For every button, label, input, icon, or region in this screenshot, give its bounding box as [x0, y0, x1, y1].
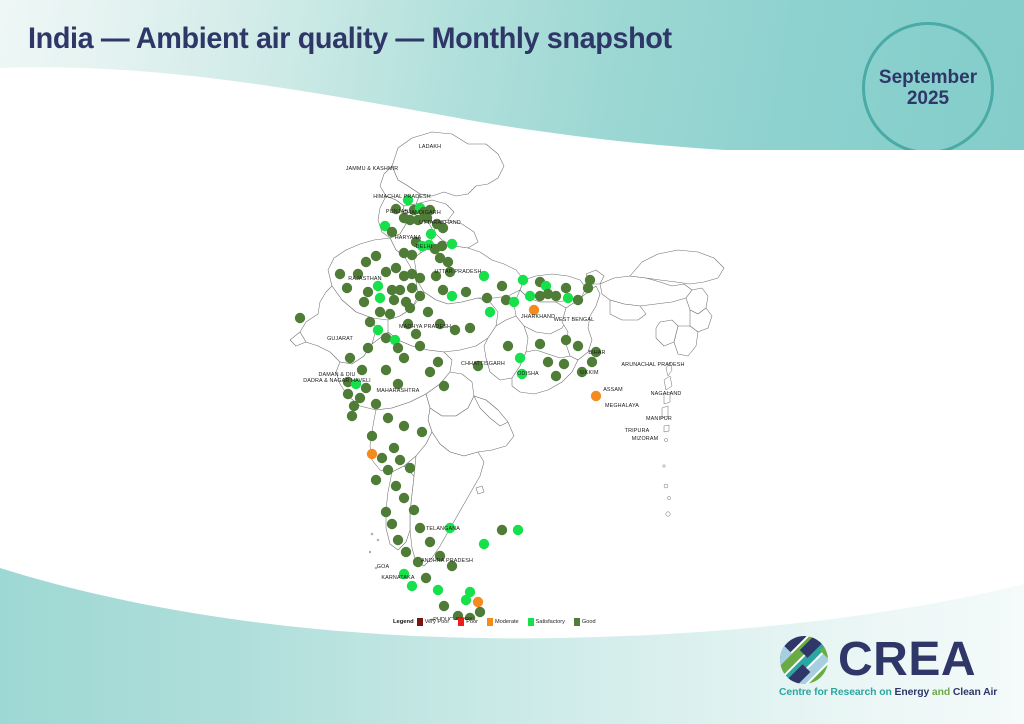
station-point[interactable]: [391, 481, 401, 491]
station-point[interactable]: [375, 293, 385, 303]
state-label: DADRA & NAGAR HAVELI: [303, 378, 371, 384]
legend-item-satisfactory: Satisfactory: [528, 618, 565, 626]
station-point[interactable]: [345, 353, 355, 363]
station-point[interactable]: [573, 295, 583, 305]
station-point[interactable]: [347, 411, 357, 421]
station-point[interactable]: [373, 281, 383, 291]
station-point[interactable]: [393, 535, 403, 545]
state-label: GUJARAT: [327, 336, 353, 342]
state-label: MANIPUR: [646, 416, 672, 422]
station-point[interactable]: [551, 291, 561, 301]
station-point[interactable]: [401, 547, 411, 557]
station-point[interactable]: [551, 371, 561, 381]
india-map[interactable]: LADAKHJAMMU & KASHMIRHIMACHAL PRADESHPUN…: [0, 100, 1024, 620]
tagline-part-4: Clean Air: [953, 687, 997, 698]
month-label: September: [879, 67, 977, 88]
state-label: JHARKHAND: [521, 314, 555, 320]
station-point[interactable]: [450, 325, 460, 335]
station-point[interactable]: [433, 357, 443, 367]
station-point[interactable]: [513, 525, 523, 535]
station-point[interactable]: [359, 297, 369, 307]
tagline-part-3: and: [929, 687, 953, 698]
state-label: MIZORAM: [632, 436, 659, 442]
station-point[interactable]: [417, 427, 427, 437]
station-point[interactable]: [497, 525, 507, 535]
station-point[interactable]: [371, 399, 381, 409]
station-point[interactable]: [415, 273, 425, 283]
page-title: India — Ambient air quality — Monthly sn…: [28, 22, 672, 56]
legend-item-moderate: Moderate: [487, 618, 519, 626]
station-point[interactable]: [371, 251, 381, 261]
station-point[interactable]: [585, 275, 595, 285]
station-point[interactable]: [399, 493, 409, 503]
station-point[interactable]: [423, 307, 433, 317]
station-point[interactable]: [415, 341, 425, 351]
station-point[interactable]: [343, 389, 353, 399]
crea-logo-mark: [778, 634, 834, 686]
state-label: HARYANA: [395, 235, 422, 241]
station-point[interactable]: [395, 455, 405, 465]
station-point[interactable]: [587, 357, 597, 367]
station-point[interactable]: [497, 281, 507, 291]
station-point[interactable]: [503, 341, 513, 351]
station-point[interactable]: [437, 241, 447, 251]
state-label: WEST BENGAL: [554, 317, 595, 323]
state-label: CHANDIGARH: [403, 210, 441, 216]
station-point[interactable]: [389, 295, 399, 305]
crea-wordmark: CREA: [838, 634, 976, 686]
station-point[interactable]: [399, 421, 409, 431]
legend-swatch: [528, 618, 534, 626]
state-label: LADAKH: [419, 144, 441, 150]
station-point[interactable]: [377, 453, 387, 463]
station-point[interactable]: [447, 239, 457, 249]
crea-tagline: Centre for Research on Energy and Clean …: [779, 687, 997, 698]
station-point[interactable]: [361, 257, 371, 267]
station-point[interactable]: [363, 343, 373, 353]
station-point[interactable]: [385, 309, 395, 319]
station-point[interactable]: [461, 287, 471, 297]
station-point[interactable]: [367, 431, 377, 441]
station-point[interactable]: [407, 283, 417, 293]
station-point[interactable]: [439, 381, 449, 391]
state-label: UTTARAKHAND: [419, 220, 461, 226]
station-point[interactable]: [389, 443, 399, 453]
legend-label: Poor: [466, 619, 478, 625]
station-point[interactable]: [342, 283, 352, 293]
legend-item-poor: Poor: [458, 618, 478, 626]
station-point[interactable]: [361, 383, 371, 393]
station-point[interactable]: [425, 367, 435, 377]
station-point[interactable]: [561, 335, 571, 345]
state-label: ARUNACHAL PRADESH: [621, 362, 684, 368]
legend-label: Moderate: [495, 619, 519, 625]
station-point[interactable]: [443, 257, 453, 267]
india-map-svg[interactable]: LADAKHJAMMU & KASHMIRHIMACHAL PRADESHPUN…: [0, 100, 1024, 620]
station-point[interactable]: [518, 275, 528, 285]
state-label: SIKKIM: [579, 370, 599, 376]
station-point[interactable]: [411, 329, 421, 339]
crea-logo[interactable]: CREA Centre for Research on Energy and C…: [778, 634, 1010, 698]
station-point[interactable]: [485, 307, 495, 317]
state-label: BIHAR: [588, 350, 605, 356]
station-point[interactable]: [405, 463, 415, 473]
station-point[interactable]: [373, 325, 383, 335]
station-point[interactable]: [399, 353, 409, 363]
station-point[interactable]: [381, 507, 391, 517]
state-label: TELANGANA: [426, 526, 460, 532]
station-point[interactable]: [465, 323, 475, 333]
state-label: NAGALAND: [651, 391, 682, 397]
state-label: TRIPURA: [625, 428, 650, 434]
state-label: ASSAM: [603, 387, 623, 393]
state-label: DELHI: [416, 244, 433, 250]
state-label: MADHYA PRADESH: [399, 324, 451, 330]
poster-root: India — Ambient air quality — Monthly sn…: [0, 0, 1024, 724]
station-point[interactable]: [383, 413, 393, 423]
station-point[interactable]: [349, 401, 359, 411]
legend-items: Very PoorPoorModerateSatisfactoryGood: [417, 618, 605, 626]
station-point[interactable]: [559, 359, 569, 369]
state-name-labels: LADAKHJAMMU & KASHMIRHIMACHAL PRADESHPUN…: [303, 144, 684, 620]
tagline-part-1: Centre for Research on: [779, 687, 895, 698]
station-point[interactable]: [543, 357, 553, 367]
station-point[interactable]: [509, 297, 519, 307]
legend-swatch: [417, 618, 423, 626]
station-point[interactable]: [535, 339, 545, 349]
station-point[interactable]: [367, 449, 377, 459]
station-point[interactable]: [515, 353, 525, 363]
state-label: CHHATTISGARH: [461, 361, 505, 367]
station-point[interactable]: [387, 519, 397, 529]
station-point[interactable]: [426, 229, 436, 239]
legend-item-good: Good: [574, 618, 596, 626]
station-point[interactable]: [438, 285, 448, 295]
station-point[interactable]: [525, 291, 535, 301]
state-label: MAHARASHTRA: [377, 388, 420, 394]
station-point[interactable]: [573, 341, 583, 351]
legend-label: Good: [582, 619, 596, 625]
tagline-part-2: Energy: [895, 687, 930, 698]
station-point[interactable]: [391, 263, 401, 273]
station-point[interactable]: [415, 523, 425, 533]
station-point[interactable]: [407, 250, 417, 260]
station-point[interactable]: [561, 283, 571, 293]
state-label: HIMACHAL PRADESH: [373, 194, 431, 200]
station-point[interactable]: [381, 333, 391, 343]
station-point[interactable]: [357, 365, 367, 375]
state-label: JAMMU & KASHMIR: [346, 166, 399, 172]
legend-swatch: [458, 618, 464, 626]
station-point[interactable]: [371, 475, 381, 485]
station-point[interactable]: [335, 269, 345, 279]
station-point[interactable]: [415, 291, 425, 301]
station-point[interactable]: [393, 343, 403, 353]
station-point[interactable]: [482, 293, 492, 303]
legend-title: Legend: [393, 619, 414, 625]
state-label: UTTAR PRADESH: [434, 269, 481, 275]
station-point[interactable]: [381, 365, 391, 375]
station-point[interactable]: [363, 287, 373, 297]
state-label: ODISHA: [517, 371, 539, 377]
station-point[interactable]: [381, 267, 391, 277]
legend-label: Very Poor: [425, 619, 450, 625]
station-point[interactable]: [563, 293, 573, 303]
station-point[interactable]: [365, 317, 375, 327]
state-label: RAJASTHAN: [348, 276, 381, 282]
legend-item-very-poor: Very Poor: [417, 618, 450, 626]
station-point[interactable]: [479, 539, 489, 549]
state-label: MEGHALAYA: [605, 403, 639, 409]
legend-swatch: [574, 618, 580, 626]
station-point[interactable]: [425, 537, 435, 547]
station-point[interactable]: [395, 285, 405, 295]
legend: Legend Very PoorPoorModerateSatisfactory…: [393, 618, 605, 626]
station-point[interactable]: [383, 465, 393, 475]
station-point[interactable]: [405, 303, 415, 313]
station-point[interactable]: [295, 313, 305, 323]
station-point[interactable]: [591, 391, 601, 401]
station-point[interactable]: [447, 291, 457, 301]
station-point[interactable]: [409, 505, 419, 515]
legend-label: Satisfactory: [536, 619, 565, 625]
station-point[interactable]: [375, 307, 385, 317]
legend-swatch: [487, 618, 493, 626]
